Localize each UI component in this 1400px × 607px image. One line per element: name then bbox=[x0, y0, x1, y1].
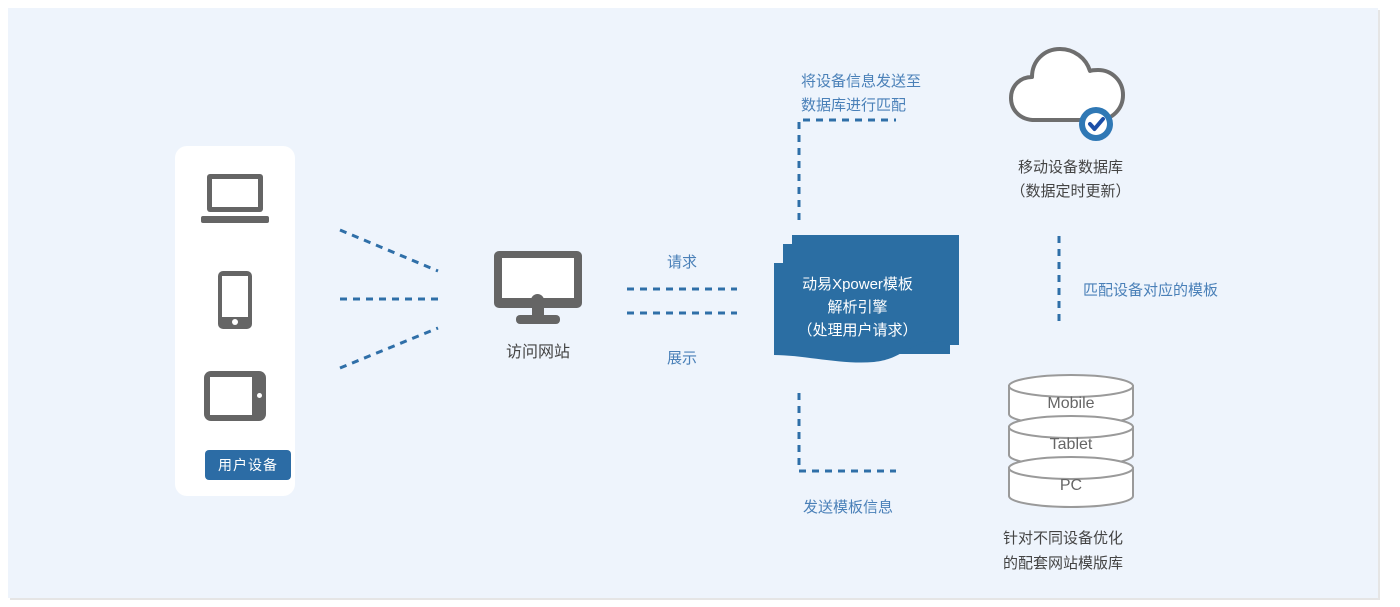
desktop-monitor-icon bbox=[494, 251, 582, 326]
xpower-engine-block: 动易Xpower模板 解析引擎 （处理用户请求） bbox=[774, 235, 959, 375]
display-label: 展示 bbox=[642, 347, 722, 371]
phone-icon bbox=[175, 271, 295, 329]
user-device-card bbox=[175, 146, 295, 496]
laptop-icon bbox=[175, 174, 295, 224]
visit-website-label: 访问网站 bbox=[494, 338, 582, 362]
wire-engine-to-templates bbox=[799, 393, 896, 471]
cylinder-pc: PC bbox=[1007, 455, 1135, 509]
wire-laptop-to-site bbox=[340, 230, 438, 271]
diagram-canvas: 用户设备 访问网站 请求 展示 动易Xpower模板 解析引擎 （处理用户请求）… bbox=[8, 8, 1378, 598]
template-store-caption: 针对不同设备优化 的配套网站模版库 bbox=[1003, 526, 1193, 576]
cloud-check-icon bbox=[1007, 36, 1129, 141]
cylinder-label-pc: PC bbox=[1007, 477, 1135, 495]
engine-label: 动易Xpower模板 解析引擎 （处理用户请求） bbox=[774, 273, 941, 342]
user-device-badge: 用户设备 bbox=[205, 450, 291, 480]
tablet-icon bbox=[175, 371, 295, 421]
request-label: 请求 bbox=[642, 251, 722, 275]
note-send-template-info: 发送模板信息 bbox=[803, 496, 983, 520]
wire-tablet-to-site bbox=[340, 328, 438, 368]
wire-engine-to-cloud bbox=[799, 120, 896, 220]
cloud-database-caption: 移动设备数据库 （数据定时更新） bbox=[983, 156, 1158, 204]
note-send-device-info: 将设备信息发送至 数据库进行匹配 bbox=[801, 70, 981, 118]
template-store-cylinders: Mobile Tablet PC bbox=[1007, 373, 1135, 508]
cylinder-label-mobile: Mobile bbox=[1007, 395, 1135, 413]
note-match-template: 匹配设备对应的模板 bbox=[1083, 279, 1283, 303]
cylinder-label-tablet: Tablet bbox=[1007, 436, 1135, 454]
